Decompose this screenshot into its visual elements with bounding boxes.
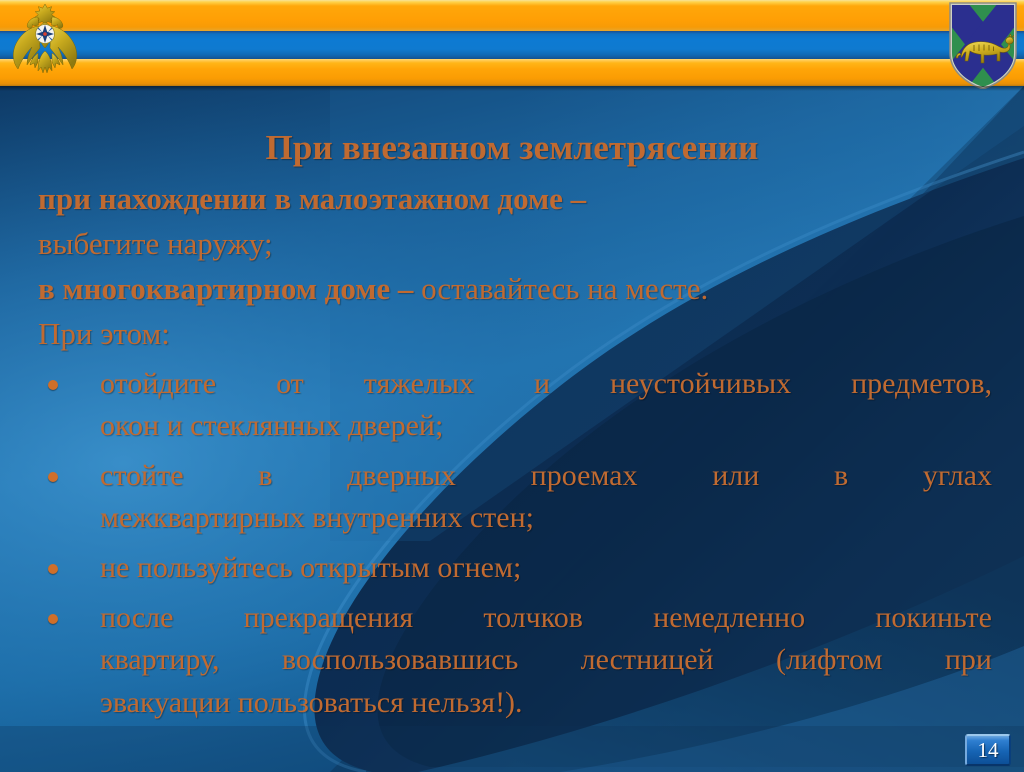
intro-line-2: выбегите наружу; <box>38 221 1000 266</box>
bullet-4-line-c: эвакуации пользоваться нельзя!). <box>100 682 992 725</box>
header-orange-band-bottom <box>0 59 1024 86</box>
list-item: отойдите от тяжелых и неустойчивых предм… <box>38 363 992 448</box>
intro-line-1-bold: при нахождении в малоэтажном доме – <box>38 181 586 216</box>
primorsky-krai-coat-of-arms-icon <box>948 1 1018 89</box>
bullet-2-line-a: стойте в дверных проемах или в углах <box>100 455 992 498</box>
header-orange-band-top <box>0 0 1024 31</box>
intro-lines: при нахождении в малоэтажном доме – выбе… <box>0 166 1024 357</box>
mchs-eagle-emblem-icon <box>8 1 82 85</box>
list-item: после прекращения толчков немедленно пок… <box>38 597 992 725</box>
page-number-badge: 14 <box>965 734 1011 766</box>
intro-line-3: в многоквартирном доме – оставайтесь на … <box>38 266 1000 311</box>
intro-line-3-bold: в многоквартирном доме – <box>38 271 413 306</box>
bullet-1-line-b: окон и стеклянных дверей; <box>100 405 992 448</box>
presentation-slide: При внезапном землетрясении при нахожден… <box>0 0 1024 772</box>
list-item: стойте в дверных проемах или в углах меж… <box>38 455 992 540</box>
list-item: не пользуйтесь открытым огнем; <box>38 547 992 590</box>
header-drop-shadow <box>0 86 1024 91</box>
bullet-4-line-a: после прекращения толчков немедленно пок… <box>100 597 992 640</box>
slide-header-banner <box>0 0 1024 86</box>
page-number-label: 14 <box>978 738 999 763</box>
header-blue-band <box>0 31 1024 59</box>
intro-line-3-rest: оставайтесь на месте. <box>413 271 708 306</box>
mchs-star-icon <box>36 25 55 44</box>
bullet-1-line-a: отойдите от тяжелых и неустойчивых предм… <box>100 363 992 406</box>
instruction-bullet-list: отойдите от тяжелых и неустойчивых предм… <box>0 363 1024 725</box>
intro-line-4: При этом: <box>38 311 1000 356</box>
bullet-4-line-b: квартиру, воспользовавшись лестницей (ли… <box>100 639 992 682</box>
slide-content: При внезапном землетрясении при нахожден… <box>0 86 1024 772</box>
intro-line-1: при нахождении в малоэтажном доме – <box>38 176 1000 221</box>
bullet-2-line-b: межквартирных внутренних стен; <box>100 497 992 540</box>
bullet-3-line-a: не пользуйтесь открытым огнем; <box>100 547 992 590</box>
slide-title: При внезапном землетрясении <box>0 86 1024 166</box>
